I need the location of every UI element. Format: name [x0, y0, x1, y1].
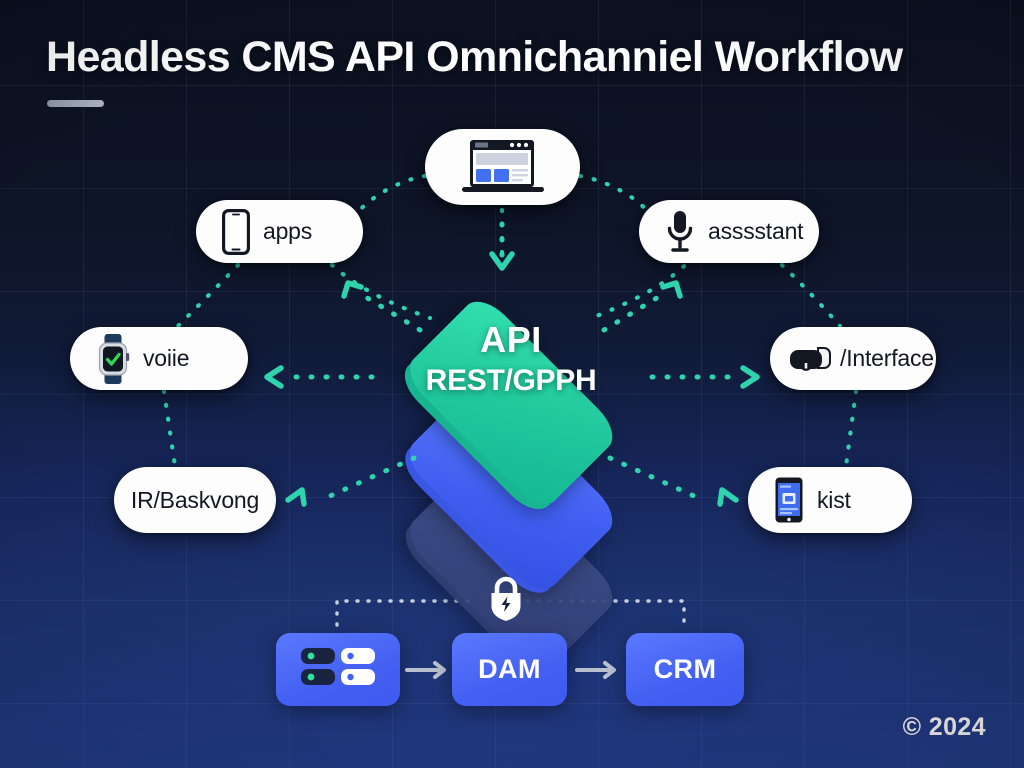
- arrow-dam-crm: [575, 658, 621, 682]
- title-accent-bar: [47, 100, 104, 107]
- browser-window-icon: [460, 136, 546, 198]
- channel-assistant[interactable]: asssstant: [639, 200, 819, 263]
- backend-dam-label: DAM: [478, 654, 541, 685]
- lock-bolt-icon: [487, 573, 525, 626]
- channel-voice-label: voiie: [143, 345, 189, 372]
- channel-voice[interactable]: voiie: [70, 327, 248, 390]
- diagram-canvas: .dot { stroke:#2fd4ae; stroke-width:4.2;…: [0, 0, 1024, 768]
- link-web-assistant: [580, 176, 648, 212]
- link-interface-kiosk: [846, 391, 856, 466]
- backend-storage[interactable]: [276, 633, 400, 706]
- link-voice-ir: [164, 391, 175, 466]
- link-assistant-interface: [782, 265, 840, 326]
- channel-web[interactable]: [425, 129, 580, 205]
- channel-interface-label: /Interface: [840, 345, 934, 372]
- channel-apps-label: apps: [263, 218, 312, 245]
- link-apps-voice: [178, 265, 238, 326]
- api-hub[interactable]: API REST/GPPH: [352, 283, 670, 533]
- backend-crm-label: CRM: [654, 654, 717, 685]
- microphone-icon: [665, 209, 695, 255]
- channel-assistant-label: asssstant: [708, 218, 803, 245]
- smartphone-icon: [222, 209, 250, 255]
- link-security-storage: [337, 601, 478, 625]
- page-title: Headless CMS API Omnichanniel Workflow: [46, 33, 903, 82]
- vr-headset-icon: [788, 342, 836, 376]
- arrow-storage-dam: [405, 658, 451, 682]
- backend-dam[interactable]: DAM: [452, 633, 567, 706]
- channel-ir-label: IR/Baskvong: [131, 487, 259, 514]
- channel-apps[interactable]: apps: [196, 200, 363, 263]
- smartwatch-icon: [96, 334, 130, 384]
- copyright-notice: © 2024: [903, 713, 986, 742]
- server-stack-icon: [299, 646, 377, 693]
- link-web-apps: [358, 176, 425, 212]
- channel-kiosk-label: kist: [817, 487, 851, 514]
- channel-kiosk[interactable]: kist: [748, 467, 912, 533]
- channel-interface[interactable]: /Interface: [770, 327, 936, 390]
- channel-ir[interactable]: IR/Baskvong: [114, 467, 276, 533]
- backend-crm[interactable]: CRM: [626, 633, 744, 706]
- kiosk-phone-icon: [774, 476, 804, 524]
